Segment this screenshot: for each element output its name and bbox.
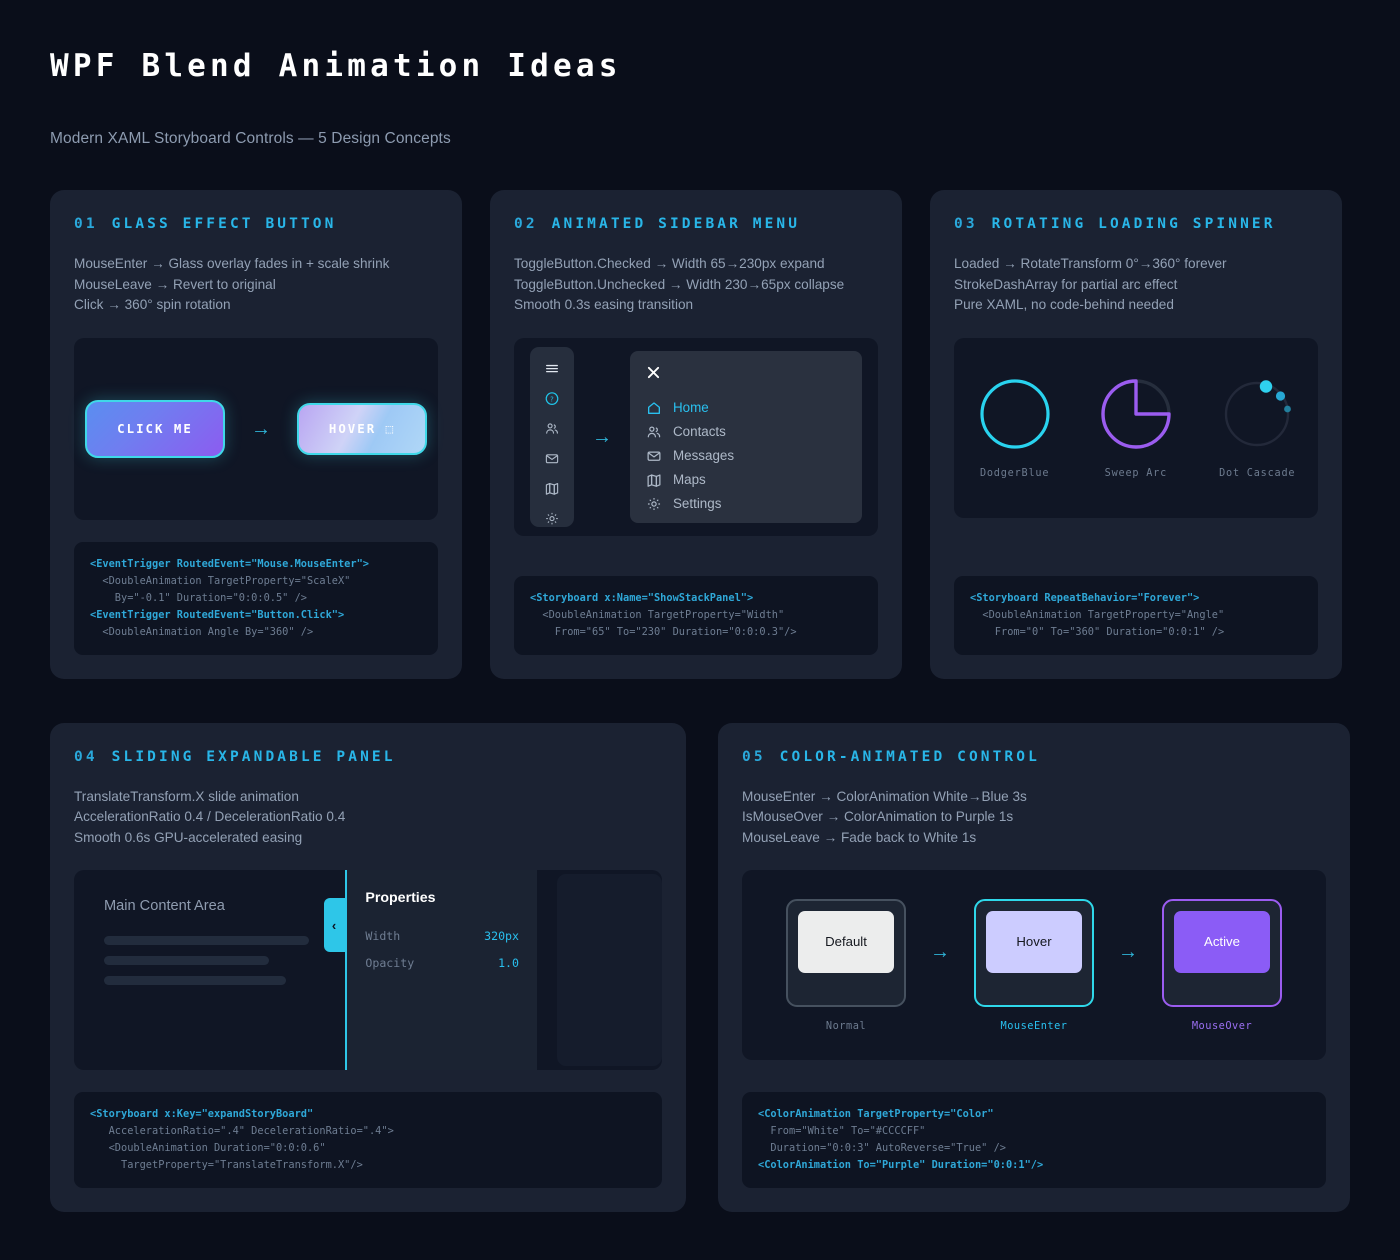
card-title-01: 01GLASS EFFECT BUTTON (74, 216, 438, 232)
code-line: <Storyboard x:Key="expandStoryBoard" (90, 1106, 646, 1123)
card-number-01: 01 (74, 216, 98, 232)
help-circle-icon[interactable]: ? (542, 391, 562, 406)
card-animated-sidebar-menu: 02ANIMATED SIDEBAR MENU ToggleButton.Che… (490, 190, 902, 679)
code-line: <ColorAnimation To="Purple" Duration="0:… (758, 1157, 1310, 1174)
card-description-05: MouseEnter → ColorAnimation White→Blue 3… (742, 787, 1326, 849)
collapsed-sidebar-rail: ? (530, 347, 574, 527)
collapse-panel-button[interactable]: ‹ (324, 898, 345, 952)
card-number-04: 04 (74, 749, 98, 765)
state-swatch: Default (798, 911, 894, 973)
desc-line: TranslateTransform.X slide animation (74, 787, 662, 808)
home-icon (646, 400, 662, 416)
state-caption: Normal (826, 1020, 866, 1032)
properties-panel: Properties Width 320px Opacity 1.0 (347, 870, 537, 1070)
desc-line: MouseLeave → Fade back to White 1s (742, 828, 1326, 849)
menu-item-label: Messages (673, 448, 734, 463)
main-content-area: Main Content Area (74, 870, 345, 1070)
spinner-dot-cascade: Dot Cascade (1219, 376, 1295, 479)
menu-item-messages[interactable]: Messages (646, 444, 846, 468)
state-arrow-icon: → (930, 942, 950, 962)
code-line: AccelerationRatio=".4" DecelerationRatio… (90, 1123, 646, 1140)
code-line: <DoubleAnimation TargetProperty="Width" (530, 607, 862, 624)
sweep-arc-spinner-icon (1098, 376, 1174, 452)
state-box-hover[interactable]: Hover (974, 899, 1094, 1007)
code-block-05: <ColorAnimation TargetProperty="Color" F… (742, 1092, 1326, 1188)
menu-item-label: Maps (673, 472, 706, 487)
code-line: From="White" To="#CCCCFF" (758, 1123, 1310, 1140)
property-value: 1.0 (498, 956, 519, 970)
card-description-02: ToggleButton.Checked → Width 65→230px ex… (514, 254, 878, 316)
cards-row-bottom: 04SLIDING EXPANDABLE PANEL TranslateTran… (50, 723, 1350, 1213)
demo-stage-04: Main Content Area ‹ Properties Width 320… (74, 870, 662, 1070)
expand-arrow-icon: → (592, 427, 612, 447)
desc-line: Click → 360° spin rotation (74, 295, 438, 316)
card-number-02: 02 (514, 216, 538, 232)
menu-item-label: Home (673, 400, 709, 415)
card-title-04: 04SLIDING EXPANDABLE PANEL (74, 749, 662, 765)
mail-icon[interactable] (542, 451, 562, 466)
transition-arrow-icon: → (251, 419, 271, 439)
property-value: 320px (484, 929, 519, 943)
state-box-default[interactable]: Default (786, 899, 906, 1007)
demo-stage-05: Default Normal → Hover MouseEnter → Acti… (742, 870, 1326, 1060)
hover-state-button[interactable]: HOVER ⬚ (297, 403, 427, 455)
demo-stage-01: CLICK ME → HOVER ⬚ (74, 338, 438, 520)
main-content-title: Main Content Area (104, 898, 345, 914)
card-heading-02: ANIMATED SIDEBAR MENU (552, 216, 800, 232)
state-swatch: Hover (986, 911, 1082, 973)
desc-line: Smooth 0.3s easing transition (514, 295, 878, 316)
card-sliding-expandable-panel: 04SLIDING EXPANDABLE PANEL TranslateTran… (50, 723, 686, 1213)
desc-line: MouseEnter → Glass overlay fades in + sc… (74, 254, 438, 275)
properties-title: Properties (365, 890, 519, 906)
cards-row-top: 01GLASS EFFECT BUTTON MouseEnter → Glass… (50, 190, 1350, 679)
card-title-03: 03ROTATING LOADING SPINNER (954, 216, 1318, 232)
demo-stage-02: ? → Home Contacts (514, 338, 878, 536)
menu-item-home[interactable]: Home (646, 396, 846, 420)
svg-text:?: ? (550, 395, 554, 403)
card-description-04: TranslateTransform.X slide animation Acc… (74, 787, 662, 849)
menu-item-label: Contacts (673, 424, 726, 439)
card-color-animated-control: 05COLOR-ANIMATED CONTROL MouseEnter → Co… (718, 723, 1350, 1213)
code-block-04: <Storyboard x:Key="expandStoryBoard" Acc… (74, 1092, 662, 1188)
map-icon[interactable] (542, 481, 562, 496)
state-swatch: Active (1174, 911, 1270, 973)
state-caption: MouseEnter (1001, 1020, 1068, 1032)
map-icon (646, 472, 662, 488)
desc-line: IsMouseOver → ColorAnimation to Purple 1… (742, 807, 1326, 828)
state-hover: Hover MouseEnter (974, 899, 1094, 1032)
card-glass-effect-button: 01GLASS EFFECT BUTTON MouseEnter → Glass… (50, 190, 462, 679)
mail-icon (646, 448, 662, 464)
card-number-05: 05 (742, 749, 766, 765)
desc-line: AccelerationRatio 0.4 / DecelerationRati… (74, 807, 662, 828)
spinner-label: DodgerBlue (980, 468, 1049, 479)
state-active: Active MouseOver (1162, 899, 1282, 1032)
skeleton-bar (104, 956, 269, 965)
gear-icon[interactable] (542, 511, 562, 526)
code-block-01: <EventTrigger RoutedEvent="Mouse.MouseEn… (74, 542, 438, 655)
code-line: <ColorAnimation TargetProperty="Color" (758, 1106, 1310, 1123)
card-description-03: Loaded → RotateTransform 0°→360° forever… (954, 254, 1318, 316)
spinner-dodgerblue: DodgerBlue (977, 376, 1053, 479)
state-arrow-icon: → (1118, 942, 1138, 962)
desc-line: ToggleButton.Checked → Width 65→230px ex… (514, 254, 878, 275)
desc-line: Pure XAML, no code-behind needed (954, 295, 1318, 316)
state-box-active[interactable]: Active (1162, 899, 1282, 1007)
code-line: By="-0.1" Duration="0:0:0.5" /> (90, 590, 422, 607)
menu-item-label: Settings (673, 496, 721, 511)
code-line: From="0" To="360" Duration="0:0:1" /> (970, 624, 1302, 641)
expanded-sidebar-panel: Home Contacts Messages Maps (630, 351, 862, 523)
code-block-02: <Storyboard x:Name="ShowStackPanel"> <Do… (514, 576, 878, 655)
code-line: Duration="0:0:3" AutoReverse="True" /> (758, 1140, 1310, 1157)
property-row-width: Width 320px (365, 922, 519, 949)
demo-stage-03: DodgerBlue Sweep Arc D (954, 338, 1318, 518)
skeleton-bar (104, 976, 286, 985)
desc-line: MouseEnter → ColorAnimation White→Blue 3… (742, 787, 1326, 808)
skeleton-bar (104, 936, 309, 945)
spinner-label: Sweep Arc (1105, 468, 1167, 479)
dot-cascade-spinner-icon (1219, 376, 1295, 452)
card-number-03: 03 (954, 216, 978, 232)
panel-divider: ‹ (345, 870, 348, 1070)
code-line: <Storyboard RepeatBehavior="Forever"> (970, 590, 1302, 607)
card-heading-04: SLIDING EXPANDABLE PANEL (112, 749, 396, 765)
property-row-opacity: Opacity 1.0 (365, 949, 519, 976)
menu-item-maps[interactable]: Maps (646, 468, 846, 492)
page-subtitle: Modern XAML Storyboard Controls — 5 Desi… (50, 130, 1350, 148)
spinner-sweep-arc: Sweep Arc (1098, 376, 1174, 479)
page-title: WPF Blend Animation Ideas (50, 48, 1350, 84)
card-heading-05: COLOR-ANIMATED CONTROL (780, 749, 1040, 765)
page-root: WPF Blend Animation Ideas Modern XAML St… (0, 0, 1400, 1260)
property-key: Width (365, 929, 400, 943)
state-normal: Default Normal (786, 899, 906, 1032)
desc-line: Loaded → RotateTransform 0°→360° forever (954, 254, 1318, 275)
code-block-03: <Storyboard RepeatBehavior="Forever"> <D… (954, 576, 1318, 655)
menu-item-contacts[interactable]: Contacts (646, 420, 846, 444)
card-rotating-loading-spinner: 03ROTATING LOADING SPINNER Loaded → Rota… (930, 190, 1342, 679)
spinner-label: Dot Cascade (1219, 468, 1295, 479)
offscreen-panel-preview (557, 874, 662, 1066)
code-line: From="65" To="230" Duration="0:0:0.3"/> (530, 624, 862, 641)
contacts-icon[interactable] (542, 421, 562, 436)
desc-line: ToggleButton.Unchecked → Width 230→65px … (514, 275, 878, 296)
menu-item-settings[interactable]: Settings (646, 492, 846, 516)
state-caption: MouseOver (1192, 1020, 1252, 1032)
code-line: <DoubleAnimation Duration="0:0:0.6" (90, 1140, 646, 1157)
card-title-05: 05COLOR-ANIMATED CONTROL (742, 749, 1326, 765)
code-line: <Storyboard x:Name="ShowStackPanel"> (530, 590, 862, 607)
card-heading-01: GLASS EFFECT BUTTON (112, 216, 337, 232)
close-icon[interactable] (646, 365, 661, 380)
code-line: <EventTrigger RoutedEvent="Button.Click"… (90, 607, 422, 624)
hamburger-icon[interactable] (542, 361, 562, 376)
gear-icon (646, 496, 662, 512)
code-line: <DoubleAnimation TargetProperty="ScaleX" (90, 573, 422, 590)
code-line: <EventTrigger RoutedEvent="Mouse.MouseEn… (90, 556, 422, 573)
desc-line: StrokeDashArray for partial arc effect (954, 275, 1318, 296)
card-title-02: 02ANIMATED SIDEBAR MENU (514, 216, 878, 232)
click-me-button[interactable]: CLICK ME (85, 400, 225, 458)
ring-spinner-icon (977, 376, 1053, 452)
code-line: <DoubleAnimation TargetProperty="Angle" (970, 607, 1302, 624)
desc-line: Smooth 0.6s GPU-accelerated easing (74, 828, 662, 849)
code-line: <DoubleAnimation Angle By="360" /> (90, 624, 422, 641)
code-line: TargetProperty="TranslateTransform.X"/> (90, 1157, 646, 1174)
desc-line: MouseLeave → Revert to original (74, 275, 438, 296)
card-description-01: MouseEnter → Glass overlay fades in + sc… (74, 254, 438, 316)
card-heading-03: ROTATING LOADING SPINNER (992, 216, 1276, 232)
property-key: Opacity (365, 956, 414, 970)
contacts-icon (646, 424, 662, 440)
